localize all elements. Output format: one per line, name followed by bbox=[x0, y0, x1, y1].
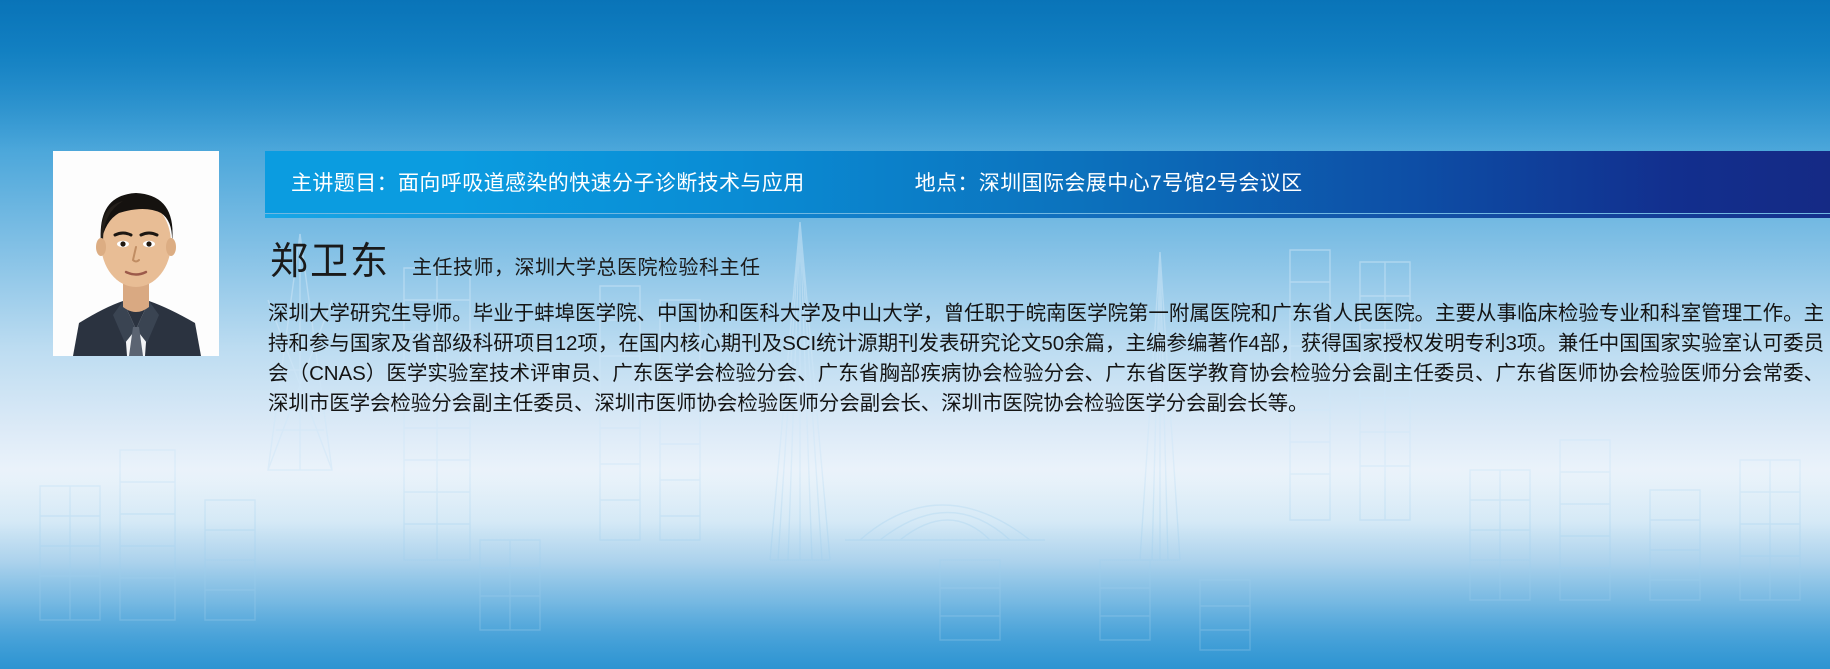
bottom-gradient-overlay bbox=[0, 469, 1830, 669]
speaker-role: 主任技师，深圳大学总医院检验科主任 bbox=[412, 251, 761, 280]
portrait-illustration bbox=[53, 151, 219, 356]
title-band: 主讲题目：面向呼吸道感染的快速分子诊断技术与应用 地点：深圳国际会展中心7号馆2… bbox=[265, 151, 1830, 213]
speaker-slide: 主讲题目：面向呼吸道感染的快速分子诊断技术与应用 地点：深圳国际会展中心7号馆2… bbox=[0, 0, 1830, 669]
speaker-name: 郑卫东 bbox=[270, 243, 390, 281]
speaker-photo bbox=[53, 151, 219, 356]
lecture-topic-label: 主讲题目：面向呼吸道感染的快速分子诊断技术与应用 bbox=[291, 167, 805, 197]
speaker-biography: 深圳大学研究生导师。毕业于蚌埠医学院、中国协和医科大学及中山大学，曾任职于皖南医… bbox=[268, 299, 1824, 419]
top-gradient-overlay bbox=[0, 0, 1830, 150]
biography-paragraph: 深圳大学研究生导师。毕业于蚌埠医学院、中国协和医科大学及中山大学，曾任职于皖南医… bbox=[268, 299, 1824, 419]
venue-label: 地点：深圳国际会展中心7号馆2号会议区 bbox=[915, 167, 1303, 197]
speaker-name-row: 郑卫东 主任技师，深圳大学总医院检验科主任 bbox=[270, 243, 761, 281]
